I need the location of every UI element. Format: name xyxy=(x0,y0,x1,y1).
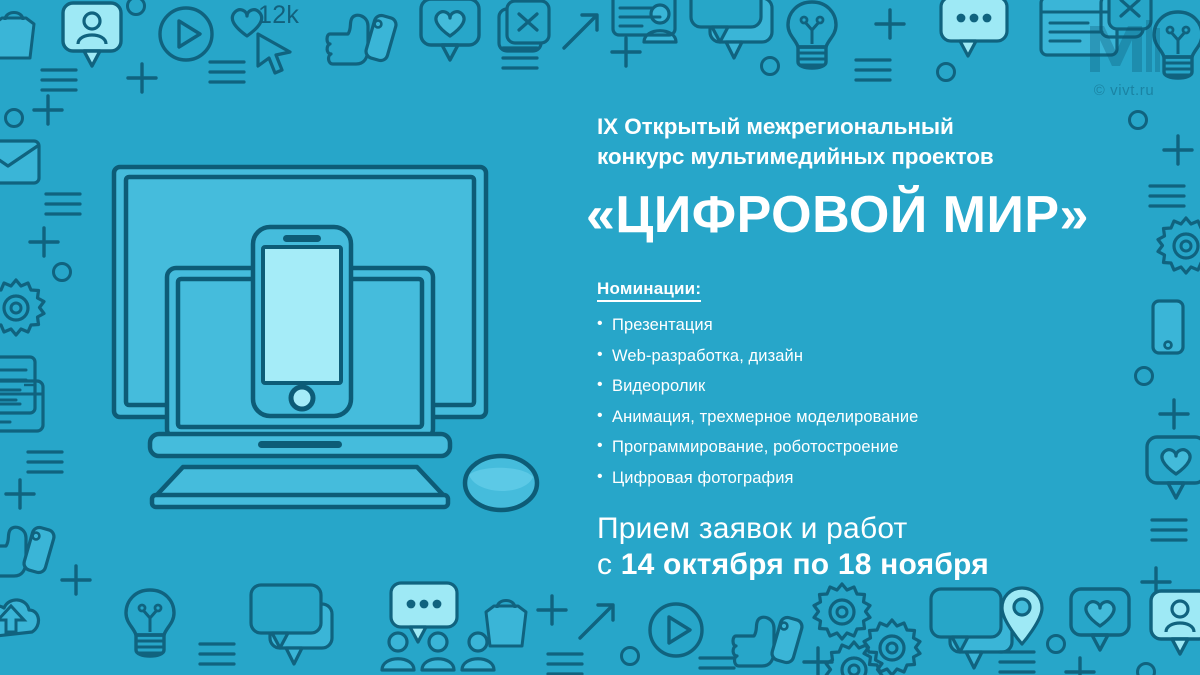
list-item: Web-разработка, дизайн xyxy=(597,348,1186,365)
page-title: «ЦИФРОВОЙ МИР» xyxy=(586,189,1186,241)
list-item: Анимация, трехмерное моделирование xyxy=(597,409,1186,426)
dates-intro: Прием заявок и работ xyxy=(597,512,1186,547)
list-item: Программирование, роботостроение xyxy=(597,439,1186,456)
event-subtitle: IX Открытый межрегиональный конкурс муль… xyxy=(586,112,1186,171)
watermark-text: © vivt.ru xyxy=(1064,82,1184,99)
nominations-heading: Номинации: xyxy=(597,279,701,302)
list-item: Видеоролик xyxy=(597,378,1186,395)
laptop-trackpad xyxy=(258,441,342,448)
nominations-list: Презентация Web-разработка, дизайн Видео… xyxy=(597,317,1186,486)
devices-illustration xyxy=(95,155,565,515)
content-column: IX Открытый межрегиональный конкурс муль… xyxy=(586,112,1186,583)
smartphone-speaker xyxy=(283,235,321,242)
smartphone-home-button xyxy=(291,387,313,409)
heart-count-label: 12k xyxy=(258,1,299,30)
list-item: Цифровая фотография xyxy=(597,470,1186,487)
dates-range-value: 14 октября по 18 ноября xyxy=(621,548,989,581)
dates-preposition: с xyxy=(597,548,621,581)
nominations-heading-wrap: Номинации: xyxy=(597,279,1186,302)
vivt-logo-icon xyxy=(1086,18,1162,76)
submission-dates: Прием заявок и работ с 14 октября по 18 … xyxy=(586,512,1186,583)
subtitle-line-1: IX Открытый межрегиональный xyxy=(586,112,1186,142)
list-item: Презентация xyxy=(597,317,1186,334)
smartphone-screen xyxy=(263,247,341,383)
dates-range: с 14 октября по 18 ноября xyxy=(597,547,1186,583)
watermark: © vivt.ru xyxy=(1064,18,1184,104)
poster-canvas: 12k IX Открытый межрегиональный конкурс … xyxy=(0,0,1200,675)
subtitle-line-2: конкурс мультимедийных проектов xyxy=(586,142,1186,172)
nominations-section: Номинации: Презентация Web-разработка, д… xyxy=(586,279,1186,486)
keyboard-edge xyxy=(152,495,448,507)
